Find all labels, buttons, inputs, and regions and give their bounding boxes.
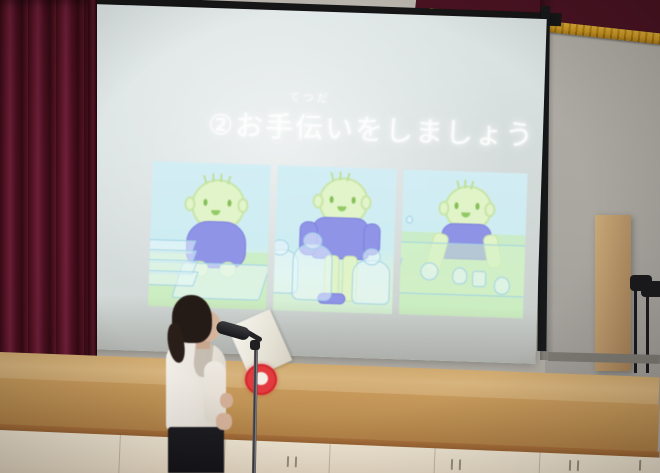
- panel1-child-hair: [220, 173, 222, 182]
- panel1-child-hair: [212, 173, 214, 182]
- cabinet-handle[interactable]: [639, 460, 641, 471]
- photo-scene: てつだ ②お手伝いをしましょう: [0, 0, 660, 473]
- presenter-hand-upper: [220, 393, 233, 408]
- slide-panel-2: [273, 165, 396, 314]
- panel2-child-hair: [331, 172, 335, 181]
- wooden-podium: [595, 215, 631, 371]
- cabinet-handle[interactable]: [451, 459, 453, 470]
- panel3-child-ear-left: [438, 201, 449, 216]
- cabinet-handle[interactable]: [287, 456, 289, 467]
- panel3-bubble-2: [406, 216, 413, 224]
- cabinet-handle[interactable]: [459, 459, 461, 470]
- panel3-child-eye-left: [454, 202, 458, 209]
- apron-seam: [117, 435, 121, 473]
- cabinet-handle[interactable]: [295, 456, 297, 467]
- slide-furigana: てつだ: [289, 89, 331, 106]
- red-circle-card: [245, 364, 277, 395]
- cabinet-handle[interactable]: [577, 460, 579, 471]
- panel2-trash-bag-2: [292, 244, 334, 301]
- panel3-child-ear-right: [484, 202, 495, 217]
- slide-title: ②お手伝いをしましょう: [207, 103, 535, 154]
- panel3-child-hair: [464, 179, 466, 188]
- panel3-bubble-1: [399, 199, 403, 207]
- slide-panel-1: [148, 161, 271, 310]
- panel3-dish-3: [472, 271, 487, 287]
- presenter-skirt: [168, 427, 224, 473]
- slide-panel-3: [399, 169, 528, 318]
- presenter-hand-lower: [216, 413, 232, 430]
- panel3-dish-1: [420, 262, 439, 281]
- panel3-child-eye-right: [475, 203, 479, 210]
- apron-seam: [327, 444, 331, 473]
- panel1-book-4: [148, 270, 199, 287]
- music-stand-top-2: [641, 281, 660, 297]
- panel1-child-ear-right: [237, 198, 248, 213]
- apron-seam: [537, 453, 541, 473]
- panel2-child-ear-right: [361, 195, 372, 210]
- apron-seam: [432, 448, 436, 473]
- cabinet-handle[interactable]: [569, 460, 571, 471]
- projection-screen: てつだ ②お手伝いをしましょう: [81, 4, 547, 364]
- presenter: [160, 295, 250, 473]
- panel3-dish-2: [452, 267, 468, 284]
- panel2-trash-bag-3: [352, 260, 391, 305]
- panel3-dish-4: [493, 276, 510, 295]
